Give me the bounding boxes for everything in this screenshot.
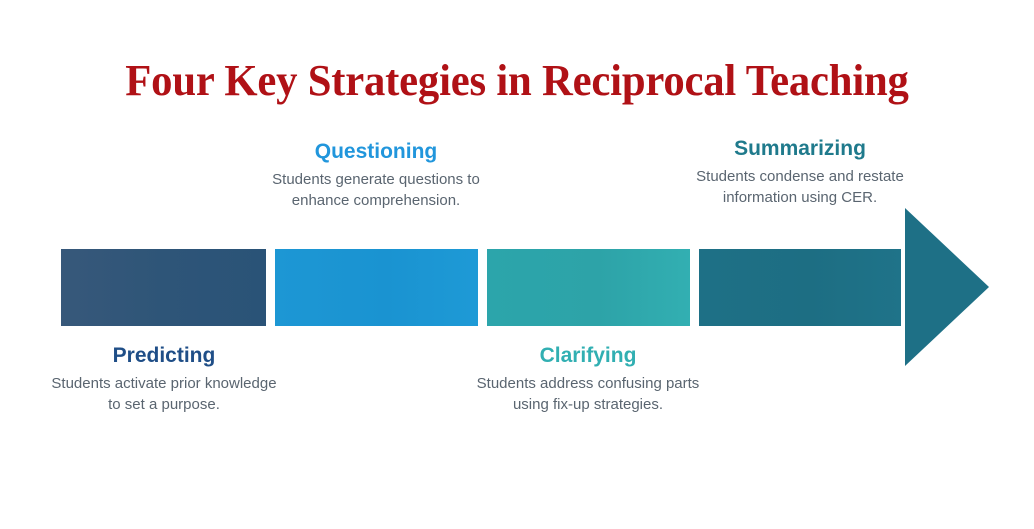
stage-bar-predicting	[61, 249, 266, 326]
stage-heading-summarizing: Summarizing	[682, 137, 918, 161]
stage-bar-clarifying	[487, 249, 690, 326]
stage-body-questioning: Students generate questions to enhance c…	[258, 164, 494, 211]
stage-caption-summarizing: Summarizing Students condense and restat…	[682, 137, 918, 208]
stage-body-predicting: Students activate prior knowledge to set…	[46, 368, 282, 415]
stage-body-summarizing: Students condense and restate informatio…	[682, 161, 918, 208]
stage-heading-clarifying: Clarifying	[470, 344, 706, 368]
process-arrow-bars	[0, 0, 1034, 529]
stage-bar-questioning	[275, 249, 478, 326]
stage-body-clarifying: Students address confusing parts using f…	[470, 368, 706, 415]
stage-caption-predicting: Predicting Students activate prior knowl…	[46, 344, 282, 415]
stage-caption-questioning: Questioning Students generate questions …	[258, 140, 494, 211]
stage-caption-clarifying: Clarifying Students address confusing pa…	[470, 344, 706, 415]
arrow-head-icon	[905, 208, 989, 366]
stage-bar-summarizing	[699, 249, 901, 326]
stage-heading-predicting: Predicting	[46, 344, 282, 368]
reciprocal-teaching-infographic: Four Key Strategies in Reciprocal Teachi…	[0, 0, 1034, 529]
stage-heading-questioning: Questioning	[258, 140, 494, 164]
